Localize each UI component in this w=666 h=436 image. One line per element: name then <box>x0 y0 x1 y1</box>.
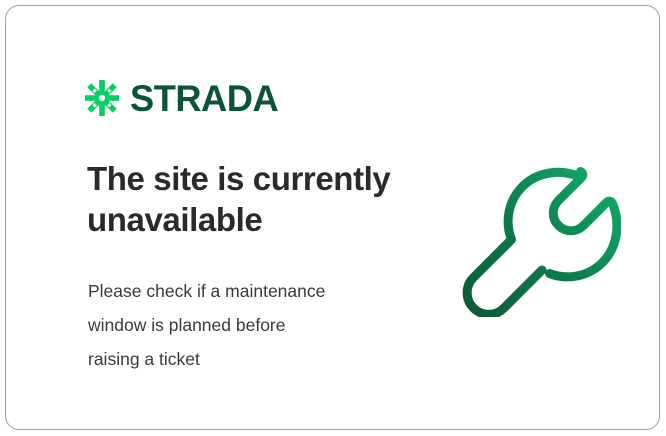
page-title: The site is currently unavailable <box>87 158 417 240</box>
page-title-line-2: unavailable <box>87 199 417 240</box>
wrench-icon <box>461 161 621 317</box>
error-page: STRADA The site is currently unavailable… <box>0 0 666 436</box>
page-description-line-2: window is planned before <box>88 308 408 342</box>
brand-lockup: STRADA <box>85 78 281 118</box>
status-card: STRADA The site is currently unavailable… <box>5 5 660 430</box>
page-description-line-3: raising a ticket <box>88 342 408 376</box>
page-title-line-1: The site is currently <box>87 158 417 199</box>
strada-asterisk-icon <box>85 80 119 116</box>
brand-wordmark: STRADA <box>130 80 278 117</box>
page-description-line-1: Please check if a maintenance <box>88 274 408 308</box>
page-description: Please check if a maintenance window is … <box>88 274 408 376</box>
